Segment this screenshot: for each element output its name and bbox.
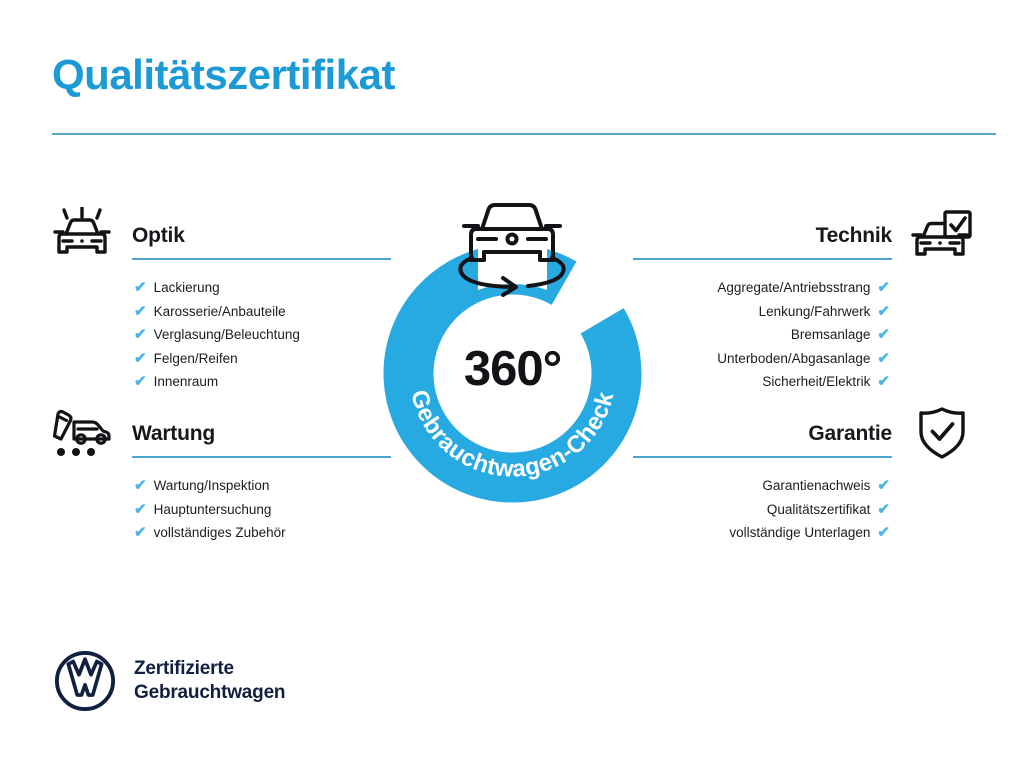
section-garantie-list: Garantienachweis✔ Qualitätszertifikat✔ v…: [633, 474, 890, 545]
vw-logo-text: Zertifizierte Gebrauchtwagen: [134, 657, 285, 705]
list-item-label: Garantienachweis: [762, 474, 870, 498]
section-technik-header: Technik: [633, 206, 978, 268]
list-item: Qualitätszertifikat✔: [633, 498, 890, 522]
list-item-label: vollständiges Zubehör: [154, 521, 286, 545]
section-optik-list: ✔Lackierung ✔Karosserie/Anbauteile ✔Verg…: [134, 276, 391, 394]
list-item: Unterboden/Abgasanlage✔: [633, 347, 890, 371]
car-checkbox-icon: [906, 206, 978, 264]
section-wartung-list: ✔Wartung/Inspektion ✔Hauptuntersuchung ✔…: [134, 474, 391, 545]
section-wartung-list-wrap: ✔Wartung/Inspektion ✔Hauptuntersuchung ✔…: [46, 466, 391, 545]
list-item: vollständige Unterlagen✔: [633, 521, 890, 545]
list-item: ✔Innenraum: [134, 370, 391, 394]
list-item-label: Karosserie/Anbauteile: [154, 300, 286, 324]
check-icon: ✔: [134, 525, 147, 540]
vw-logo-line1: Zertifizierte: [134, 657, 285, 681]
list-item-label: Innenraum: [154, 370, 219, 394]
section-technik: Technik Aggregate/Antriebsstrang✔ Lenkun…: [633, 206, 978, 394]
check-icon: ✔: [877, 502, 890, 517]
check-icon: ✔: [877, 351, 890, 366]
list-item-label: Bremsanlage: [791, 323, 871, 347]
list-item-label: Aggregate/Antriebsstrang: [717, 276, 870, 300]
vw-certified-logo: Zertifizierte Gebrauchtwagen: [54, 648, 285, 714]
vw-logo-line2: Gebrauchtwagen: [134, 681, 285, 705]
check-icon: ✔: [134, 304, 147, 319]
list-item: Aggregate/Antriebsstrang✔: [633, 276, 890, 300]
car-service-pen-icon: [46, 404, 118, 462]
section-garantie-underline: [633, 456, 892, 458]
section-optik-underline: [132, 258, 391, 260]
list-item: ✔Karosserie/Anbauteile: [134, 300, 391, 324]
section-optik-title: Optik: [132, 224, 185, 248]
check-icon: ✔: [877, 374, 890, 389]
car-shine-icon: [46, 206, 118, 264]
check-icon: ✔: [134, 327, 147, 342]
section-technik-list: Aggregate/Antriebsstrang✔ Lenkung/Fahrwe…: [633, 276, 890, 394]
list-item-label: vollständige Unterlagen: [729, 521, 870, 545]
list-item: ✔vollständiges Zubehör: [134, 521, 391, 545]
check-icon: ✔: [877, 327, 890, 342]
list-item-label: Lenkung/Fahrwerk: [759, 300, 871, 324]
check-icon: ✔: [877, 304, 890, 319]
list-item: Sicherheit/Elektrik✔: [633, 370, 890, 394]
list-item-label: Lackierung: [154, 276, 220, 300]
list-item-label: Unterboden/Abgasanlage: [717, 347, 870, 371]
section-garantie: Garantie Garantienachweis✔ Qualitätszert…: [633, 404, 978, 545]
list-item-label: Hauptuntersuchung: [154, 498, 272, 522]
list-item: ✔Felgen/Reifen: [134, 347, 391, 371]
list-item-label: Verglasung/Beleuchtung: [154, 323, 300, 347]
check-icon: ✔: [134, 351, 147, 366]
list-item-label: Wartung/Inspektion: [154, 474, 270, 498]
section-technik-list-wrap: Aggregate/Antriebsstrang✔ Lenkung/Fahrwe…: [633, 268, 978, 394]
list-item-label: Qualitätszertifikat: [767, 498, 871, 522]
quality-certificate-page: Qualitätszertifikat: [0, 0, 1024, 768]
car-rotate-icon: [448, 196, 576, 298]
section-wartung: Wartung ✔Wartung/Inspektion ✔Hauptunters…: [46, 404, 391, 545]
section-wartung-underline: [132, 456, 391, 458]
check-icon: ✔: [134, 280, 147, 295]
list-item: ✔Wartung/Inspektion: [134, 474, 391, 498]
list-item-label: Felgen/Reifen: [154, 347, 238, 371]
badge-degrees: 360°: [383, 345, 642, 394]
list-item: Lenkung/Fahrwerk✔: [633, 300, 890, 324]
vw-roundel-icon: [54, 650, 116, 712]
section-garantie-list-wrap: Garantienachweis✔ Qualitätszertifikat✔ v…: [633, 466, 978, 545]
list-item: ✔Verglasung/Beleuchtung: [134, 323, 391, 347]
section-optik-header: Optik: [46, 206, 391, 268]
check-icon: ✔: [877, 525, 890, 540]
check-icon: ✔: [877, 280, 890, 295]
list-item: Bremsanlage✔: [633, 323, 890, 347]
check-icon: ✔: [134, 478, 147, 493]
section-technik-title: Technik: [816, 224, 892, 248]
check-icon: ✔: [877, 478, 890, 493]
section-technik-underline: [633, 258, 892, 260]
section-optik-list-wrap: ✔Lackierung ✔Karosserie/Anbauteile ✔Verg…: [46, 268, 391, 394]
right-column: Technik Aggregate/Antriebsstrang✔ Lenkun…: [633, 0, 978, 768]
section-optik: Optik ✔Lackierung ✔Karosserie/Anbauteile…: [46, 206, 391, 394]
section-garantie-header: Garantie: [633, 404, 978, 466]
list-item: Garantienachweis✔: [633, 474, 890, 498]
shield-check-icon: [906, 404, 978, 462]
list-item: ✔Hauptuntersuchung: [134, 498, 391, 522]
list-item-label: Sicherheit/Elektrik: [762, 370, 870, 394]
check-icon: ✔: [134, 502, 147, 517]
section-wartung-title: Wartung: [132, 422, 215, 446]
list-item: ✔Lackierung: [134, 276, 391, 300]
section-wartung-header: Wartung: [46, 404, 391, 466]
check-icon: ✔: [134, 374, 147, 389]
section-garantie-title: Garantie: [808, 422, 892, 446]
